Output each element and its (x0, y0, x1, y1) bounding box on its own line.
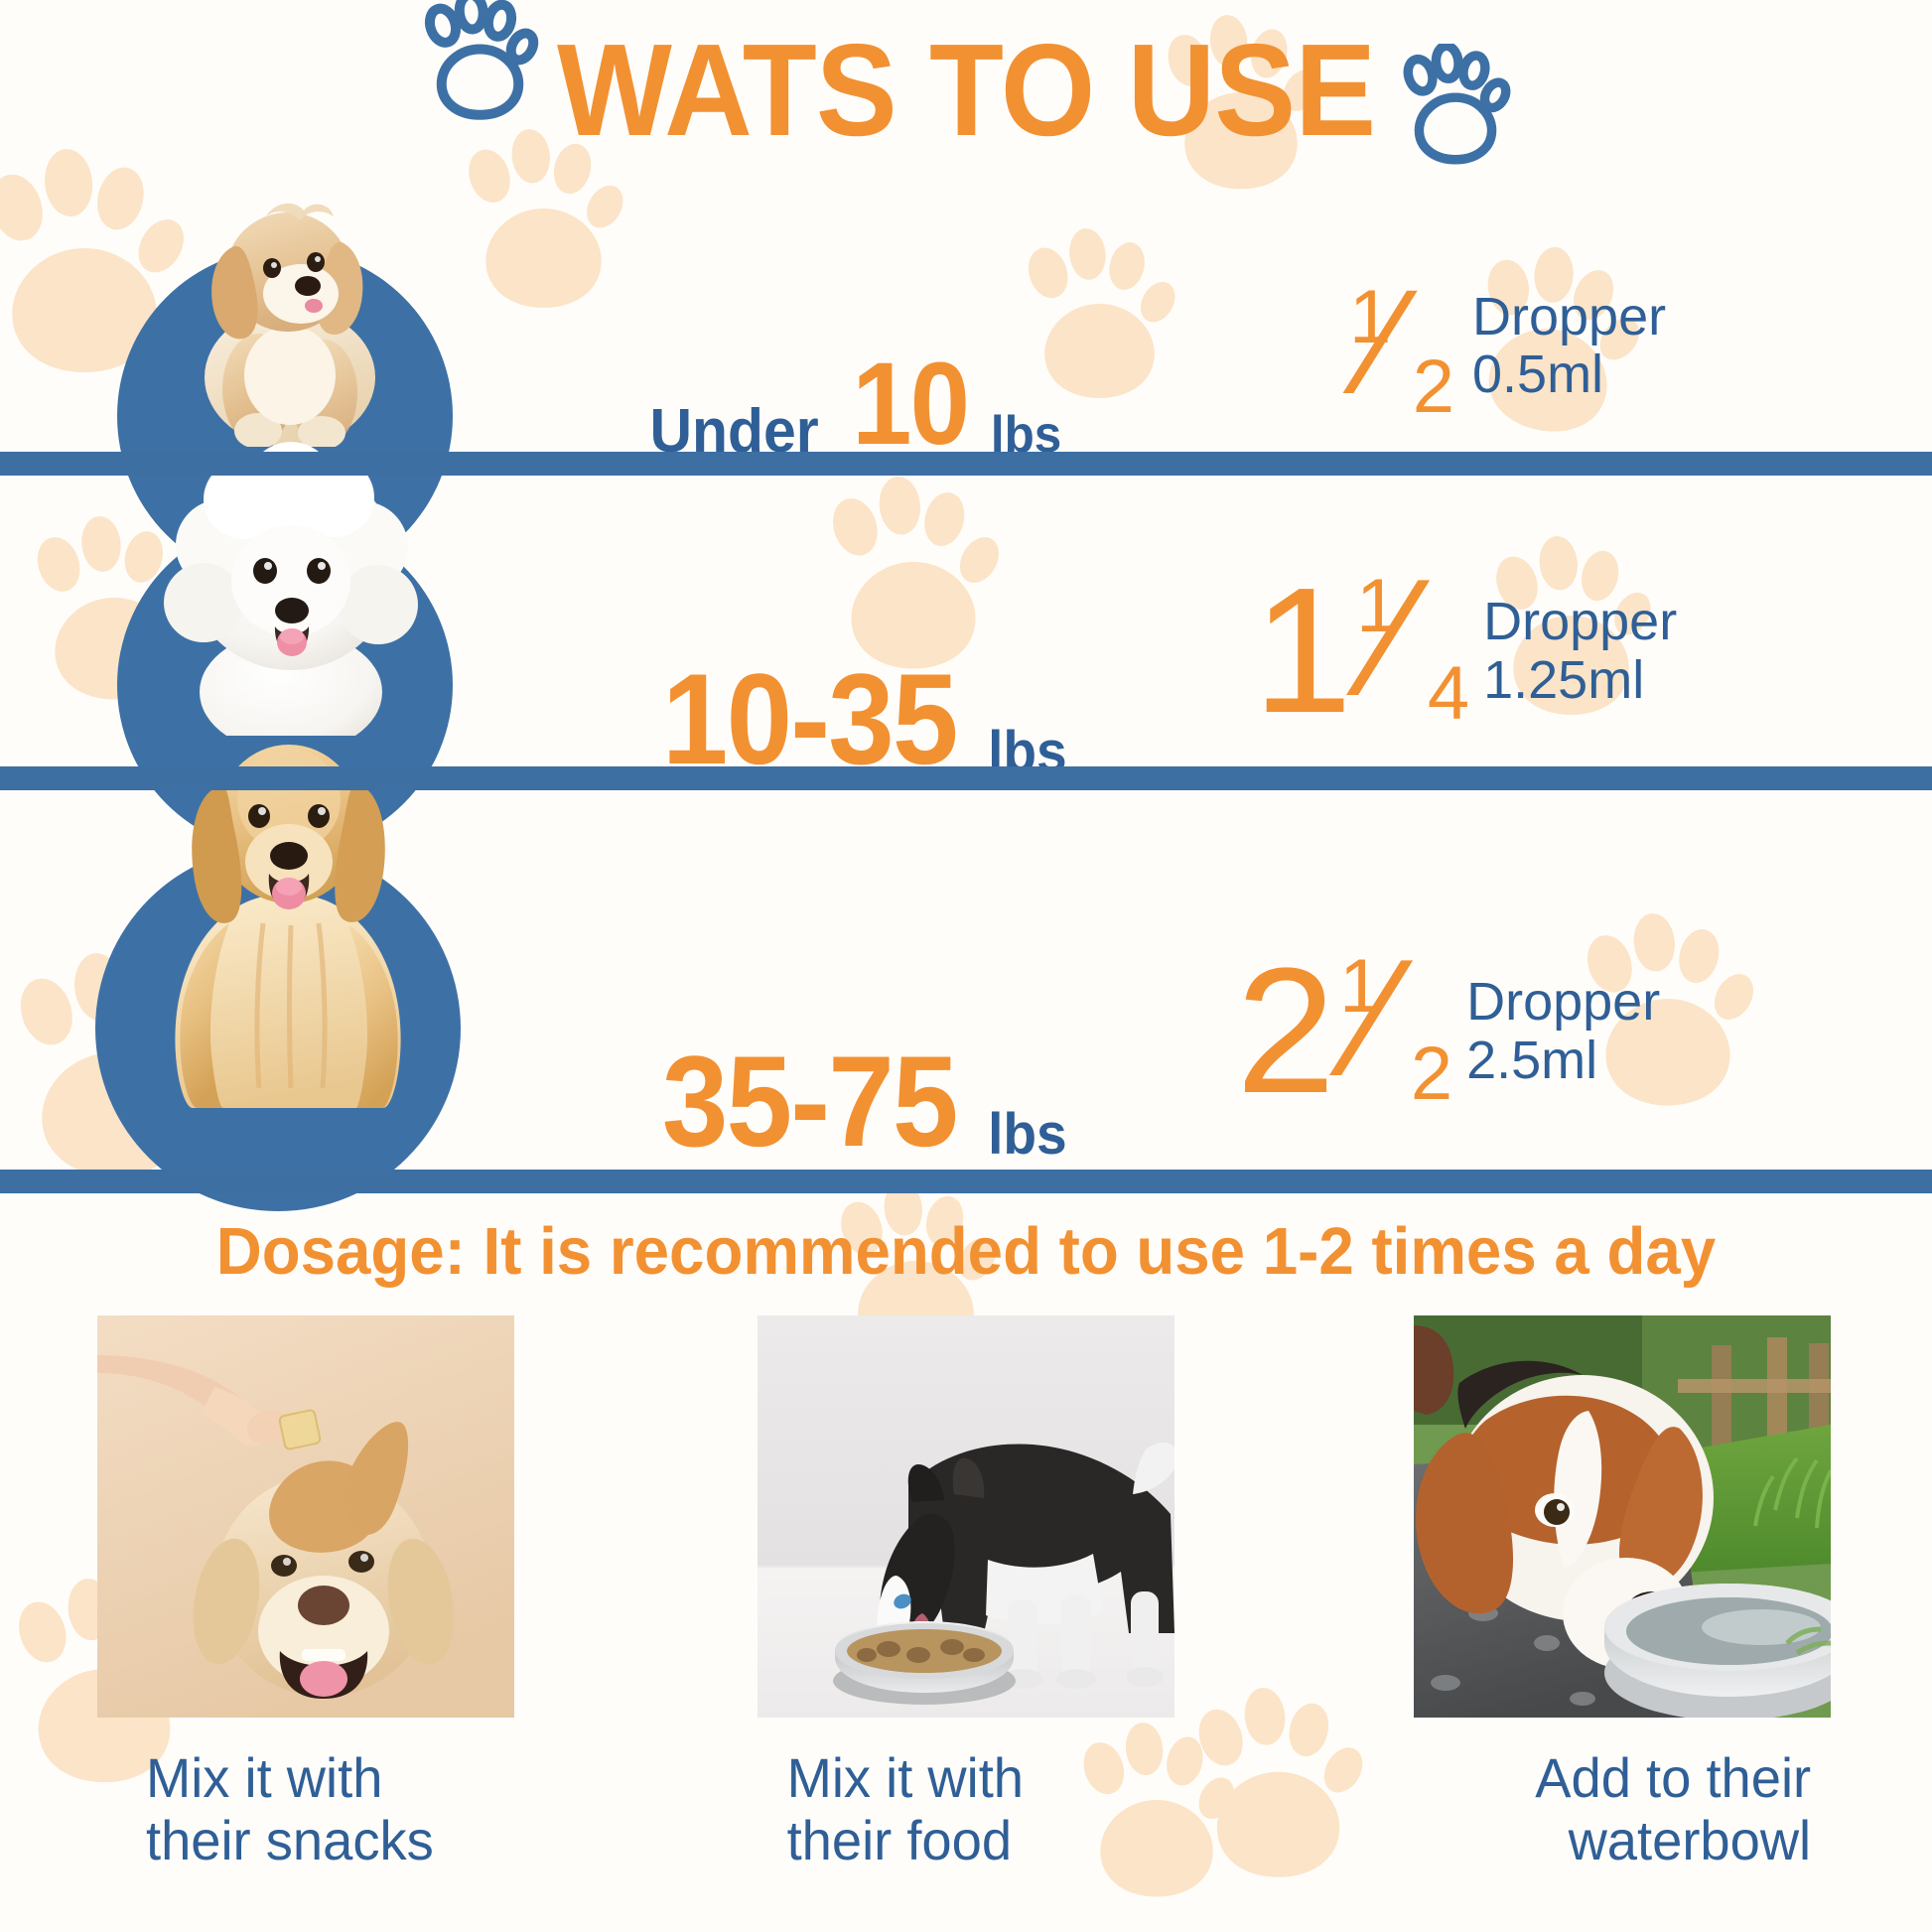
dose-label-line2: 1.25ml (1483, 650, 1644, 710)
paw-print-icon (1397, 44, 1514, 180)
dose-whole-number: 1 (1253, 569, 1352, 734)
dosage-row: 35-75 lbs 2 1 ⁄ 2 Dropper 2.5ml (0, 790, 1932, 1177)
dose-label-line1: Dropper (1466, 972, 1660, 1032)
weight-value: 35-75 (662, 1036, 957, 1166)
paw-print-icon (418, 0, 542, 136)
dose-group: 1 ⁄ 2 Dropper 0.5ml (1345, 280, 1666, 411)
infographic-root: WATS TO USE (0, 0, 1932, 1932)
weight-value: 10-35 (662, 654, 957, 783)
dog-photo-small-dog (139, 181, 437, 479)
weight-label-group: Under 10 lbs (645, 345, 1064, 463)
weight-label-group: 10-35 lbs (625, 654, 1068, 783)
weight-unit: lbs (988, 1105, 1067, 1166)
row-divider-bar (0, 452, 1932, 476)
dose-label-line1: Dropper (1483, 592, 1677, 651)
fraction-denominator: 2 (1413, 349, 1454, 425)
fraction-glyph: 1 ⁄ 2 (1347, 280, 1450, 411)
dosage-row: Under 10 lbs 1 ⁄ 2 Dropper 0.5ml (0, 159, 1932, 457)
dose-label-line2: 2.5ml (1466, 1031, 1597, 1090)
fraction-slash-icon: ⁄ (1363, 945, 1391, 1092)
caption-line1: Mix it with (146, 1746, 382, 1809)
dose-label-line2: 0.5ml (1472, 345, 1603, 404)
photo-beagle-drinking (1414, 1315, 1831, 1718)
dose-label: Dropper 0.5ml (1472, 288, 1666, 404)
dose-fraction: 1 ⁄ 2 (1345, 280, 1450, 411)
row-divider-bar (0, 1170, 1932, 1193)
dose-group: 2 1 ⁄ 2 Dropper 2.5ml (1236, 949, 1660, 1114)
usage-cards: Mix it with their snacks (0, 1315, 1932, 1911)
caption-line2: waterbowl (1569, 1809, 1812, 1871)
weight-value: 10 (852, 345, 968, 463)
caption-line1: Add to their (1535, 1746, 1811, 1809)
caption-line2: their snacks (146, 1809, 434, 1871)
fraction-glyph: 1 ⁄ 4 (1354, 569, 1465, 718)
fraction-slash-icon: ⁄ (1380, 565, 1408, 712)
dose-fraction: 1 1 ⁄ 4 (1253, 569, 1465, 734)
dose-label: Dropper 2.5ml (1466, 973, 1660, 1089)
dosage-note-banner: Dosage: It is recommended to use 1-2 tim… (0, 1213, 1932, 1290)
dose-group: 1 1 ⁄ 4 Dropper 1.25ml (1253, 569, 1677, 734)
fraction-denominator: 2 (1411, 1036, 1452, 1112)
usage-card-caption: Add to their waterbowl (1420, 1747, 1824, 1871)
dosage-note-text: Dosage: It is recommended to use 1-2 tim… (216, 1213, 1716, 1290)
fraction-slash-icon: ⁄ (1373, 276, 1398, 407)
dose-label: Dropper 1.25ml (1483, 593, 1677, 709)
usage-card: Mix it with their food (758, 1315, 1174, 1871)
page-title: WATS TO USE (557, 25, 1375, 156)
dog-photo-golden-retriever (124, 675, 452, 1142)
fraction-denominator: 4 (1428, 656, 1469, 732)
caption-line1: Mix it with (787, 1746, 1024, 1809)
photo-hand-feeding-treat (97, 1315, 514, 1718)
usage-card: Mix it with their snacks (97, 1315, 514, 1871)
photo-husky-eating (758, 1315, 1174, 1718)
usage-card-caption: Mix it with their food (763, 1747, 1168, 1871)
row-divider-bar (0, 766, 1932, 790)
usage-card-caption: Mix it with their snacks (103, 1747, 507, 1871)
usage-card: Add to their waterbowl (1414, 1315, 1831, 1871)
dose-fraction: 2 1 ⁄ 2 (1236, 949, 1449, 1114)
page-title-bar: WATS TO USE (0, 8, 1932, 172)
fraction-glyph: 1 ⁄ 2 (1337, 949, 1449, 1098)
dose-whole-number: 2 (1236, 949, 1335, 1114)
weight-label-group: 35-75 lbs (625, 1036, 1068, 1166)
dose-label-line1: Dropper (1472, 287, 1666, 346)
caption-line2: their food (787, 1809, 1012, 1871)
